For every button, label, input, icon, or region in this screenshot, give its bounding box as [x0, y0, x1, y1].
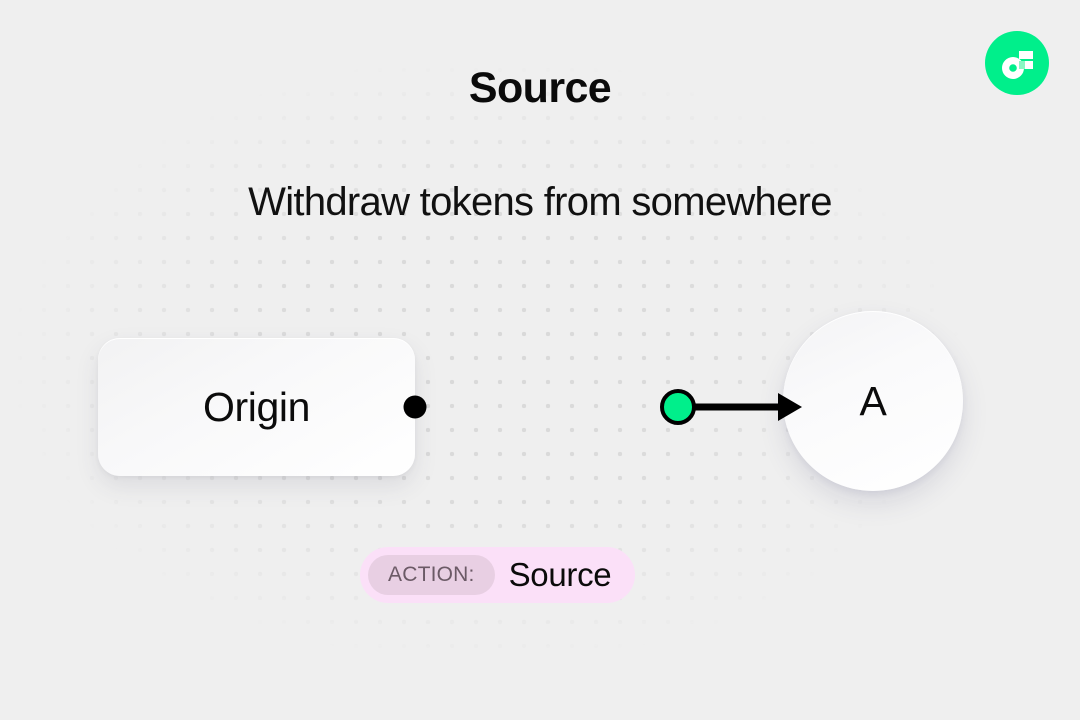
- node-a[interactable]: A: [783, 311, 963, 491]
- diagram-canvas: Source Withdraw tokens from somewhere Or…: [0, 0, 1080, 720]
- node-origin[interactable]: Origin: [98, 338, 415, 476]
- edge-token-marker-icon[interactable]: [662, 391, 694, 423]
- page-subtitle: Withdraw tokens from somewhere: [0, 180, 1080, 225]
- action-key-label: ACTION:: [388, 563, 475, 587]
- node-origin-label: Origin: [203, 384, 310, 431]
- flow-logo-icon: [985, 31, 1049, 95]
- action-value-label: Source: [509, 556, 612, 594]
- page-title: Source: [0, 64, 1080, 113]
- action-badge: ACTION: Source: [360, 547, 635, 603]
- action-key-pill: ACTION:: [368, 555, 495, 595]
- node-a-label: A: [860, 378, 887, 425]
